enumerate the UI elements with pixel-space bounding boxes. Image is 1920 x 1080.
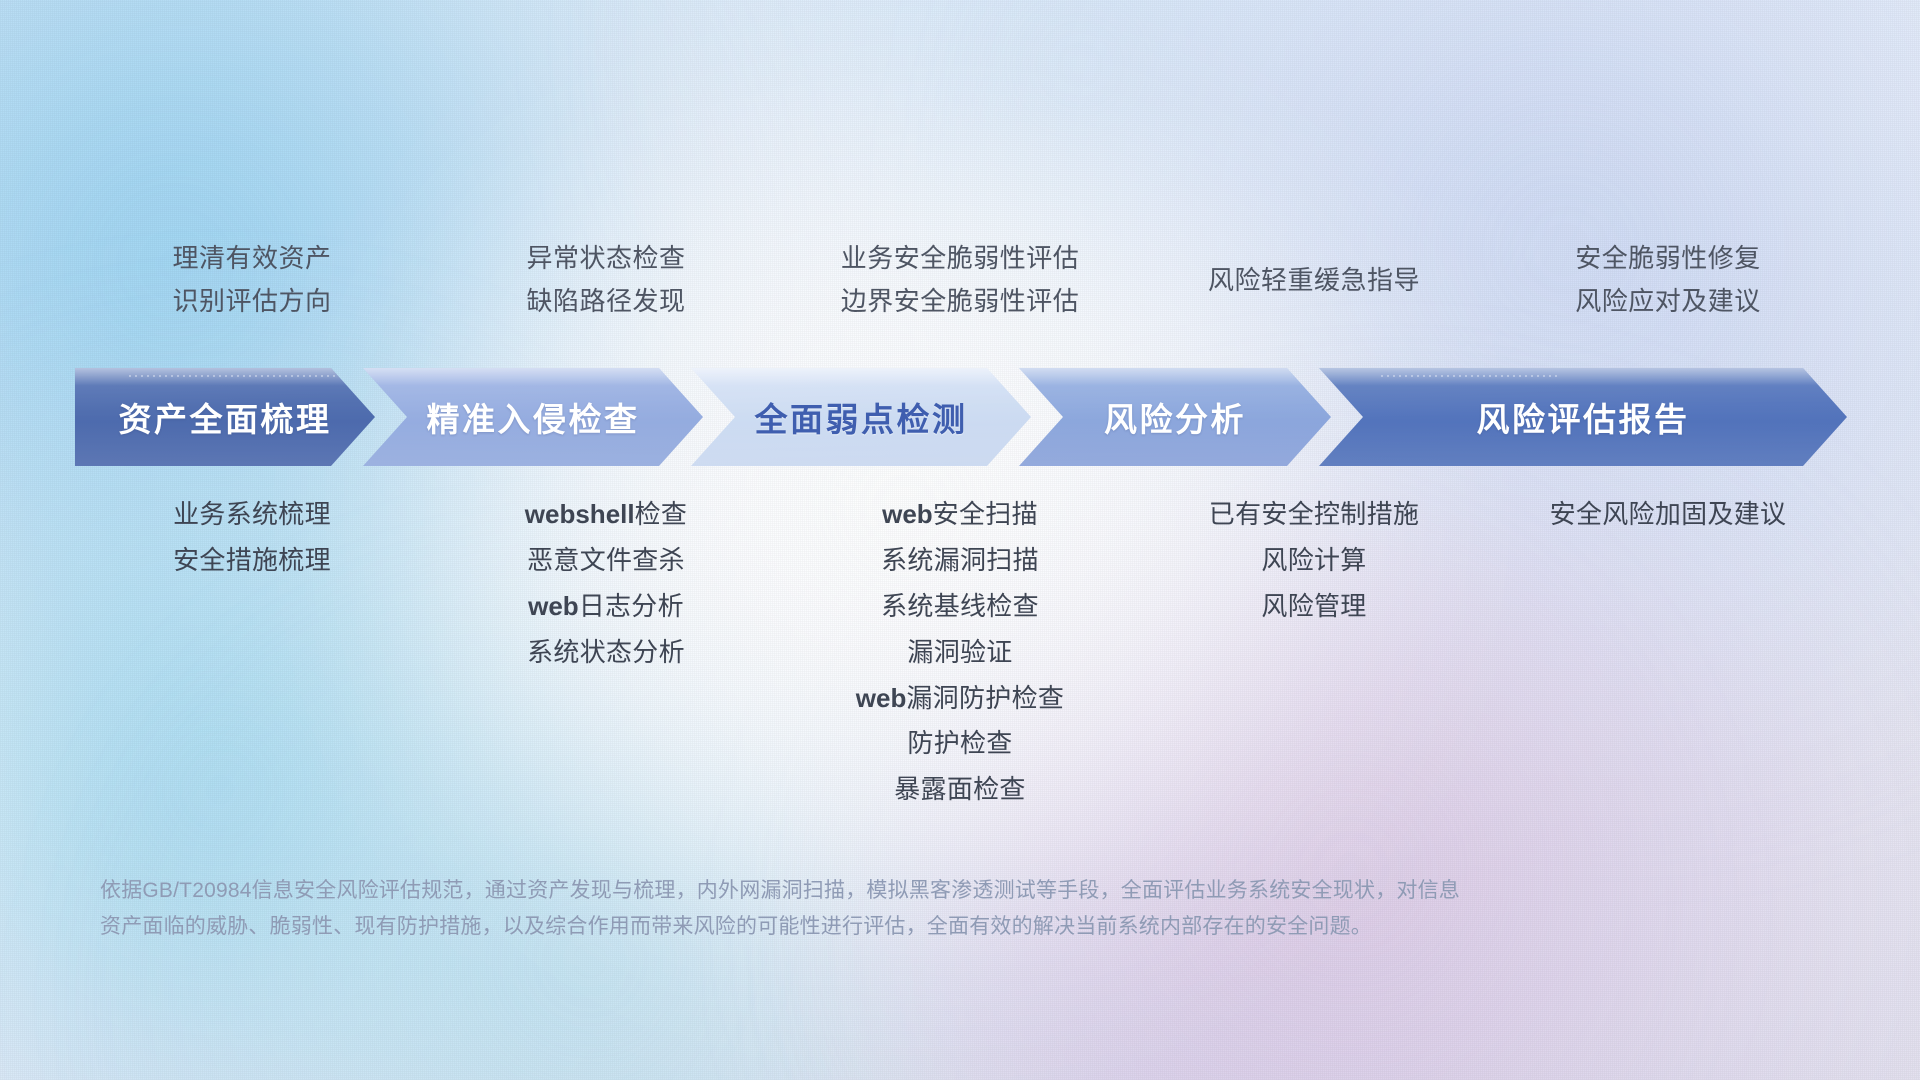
chevron-stage-intrusion-check[interactable]: 精准入侵检查 — [363, 368, 703, 466]
bottom-caption-cjk: 检查 — [635, 499, 688, 529]
bottom-caption-cjk: 暴露面检查 — [894, 774, 1026, 804]
bottom-captions-risk-analysis: 已有安全控制措施 风险计算 风险管理 — [1137, 500, 1491, 622]
bottom-caption-cjk: 系统漏洞扫描 — [881, 545, 1039, 575]
chevron-stage-assessment-report[interactable]: 风险评估报告 — [1319, 368, 1847, 466]
bottom-captions-weakness-detection: web安全扫描 系统漏洞扫描 系统基线检查 漏洞验证 web漏洞防护检查 防护检… — [783, 500, 1137, 805]
top-captions-risk-analysis: 风险轻重缓急指导 — [1137, 225, 1491, 335]
process-chevron-bar: 资产全面梳理 精准入侵检查 全面弱点检测 风险分析 风险评估报告 — [75, 368, 1847, 466]
bottom-caption-line: 漏洞验证 — [907, 638, 1012, 668]
chevron-stage-asset-inventory[interactable]: 资产全面梳理 — [75, 368, 375, 466]
chevron-label: 资产全面梳理 — [119, 393, 332, 441]
bottom-caption-cjk: 风险计算 — [1261, 545, 1366, 575]
footer-line: 依据GB/T20984信息安全风险评估规范，通过资产发现与梳理，内外网漏洞扫描，… — [100, 873, 1620, 909]
top-caption-line: 业务安全脆弱性评估 — [841, 244, 1080, 273]
bottom-caption-line: 防护检查 — [907, 729, 1012, 759]
top-caption-line: 识别评估方向 — [172, 287, 331, 316]
bottom-caption-line: 安全风险加固及建议 — [1550, 500, 1787, 530]
top-caption-line: 风险应对及建议 — [1575, 287, 1761, 316]
process-diagram: 理清有效资产 识别评估方向 异常状态检查 缺陷路径发现 业务安全脆弱性评估 边界… — [0, 0, 1920, 1080]
top-caption-line: 安全脆弱性修复 — [1575, 244, 1761, 273]
bottom-caption-cjk: 风险管理 — [1261, 591, 1366, 621]
bottom-caption-cjk: 漏洞验证 — [907, 637, 1012, 667]
bottom-caption-line: web日志分析 — [528, 592, 684, 622]
bottom-caption-cjk: 日志分析 — [579, 591, 684, 621]
footer-line: 资产面临的威胁、脆弱性、现有防护措施，以及综合作用而带来风险的可能性进行评估，全… — [100, 909, 1620, 945]
bottom-caption-cjk: 安全扫描 — [933, 499, 1038, 529]
bottom-caption-cjk: 安全风险加固及建议 — [1550, 499, 1787, 529]
top-caption-line: 理清有效资产 — [172, 244, 331, 273]
top-captions-asset-inventory: 理清有效资产 识别评估方向 — [75, 225, 429, 335]
bottom-caption-line: 系统状态分析 — [527, 638, 685, 668]
bottom-caption-cjk: 恶意文件查杀 — [527, 545, 685, 575]
top-caption-line: 缺陷路径发现 — [526, 287, 685, 316]
bottom-caption-line: web漏洞防护检查 — [856, 684, 1064, 714]
bottom-caption-line: 业务系统梳理 — [173, 500, 331, 530]
bottom-caption-line: 恶意文件查杀 — [527, 546, 685, 576]
bottom-caption-cjk: 已有安全控制措施 — [1209, 499, 1419, 529]
chevron-label: 精准入侵检查 — [427, 393, 640, 441]
chevron-label: 全面弱点检测 — [755, 393, 968, 441]
bottom-caption-line: 系统漏洞扫描 — [881, 546, 1039, 576]
top-captions-weakness-detection: 业务安全脆弱性评估 边界安全脆弱性评估 — [783, 225, 1137, 335]
top-caption-line: 边界安全脆弱性评估 — [841, 287, 1080, 316]
bottom-caption-cjk: 业务系统梳理 — [173, 499, 331, 529]
top-caption-line: 风险轻重缓急指导 — [1208, 266, 1420, 295]
top-captions-assessment-report: 安全脆弱性修复 风险应对及建议 — [1491, 225, 1845, 335]
bottom-caption-line: 风险计算 — [1261, 546, 1366, 576]
bottom-caption-latin: web — [856, 683, 907, 713]
bottom-caption-line: web安全扫描 — [882, 500, 1038, 530]
bottom-caption-line: webshell检查 — [525, 500, 687, 530]
bottom-caption-cjk: 系统基线检查 — [881, 591, 1039, 621]
bottom-caption-latin: webshell — [525, 499, 635, 529]
footer-description: 依据GB/T20984信息安全风险评估规范，通过资产发现与梳理，内外网漏洞扫描，… — [100, 873, 1620, 945]
bottom-caption-line: 系统基线检查 — [881, 592, 1039, 622]
top-caption-row: 理清有效资产 识别评估方向 异常状态检查 缺陷路径发现 业务安全脆弱性评估 边界… — [75, 225, 1845, 335]
bottom-captions-asset-inventory: 业务系统梳理 安全措施梳理 — [75, 500, 429, 576]
top-captions-intrusion-check: 异常状态检查 缺陷路径发现 — [429, 225, 783, 335]
bottom-captions-intrusion-check: webshell检查 恶意文件查杀 web日志分析 系统状态分析 — [429, 500, 783, 668]
bottom-caption-line: 已有安全控制措施 — [1209, 500, 1419, 530]
chevron-stage-weakness-detection[interactable]: 全面弱点检测 — [691, 368, 1031, 466]
top-caption-line: 异常状态检查 — [526, 244, 685, 273]
bottom-caption-line: 暴露面检查 — [894, 775, 1026, 805]
bottom-caption-line: 安全措施梳理 — [173, 546, 331, 576]
bottom-captions-assessment-report: 安全风险加固及建议 — [1491, 500, 1845, 530]
bottom-caption-line: 风险管理 — [1261, 592, 1366, 622]
bottom-caption-cjk: 安全措施梳理 — [173, 545, 331, 575]
chevron-label: 风险分析 — [1104, 393, 1246, 441]
chevron-stage-risk-analysis[interactable]: 风险分析 — [1019, 368, 1331, 466]
bottom-caption-latin: web — [882, 499, 933, 529]
chevron-label: 风险评估报告 — [1477, 393, 1690, 441]
bottom-caption-latin: web — [528, 591, 579, 621]
bottom-caption-row: 业务系统梳理 安全措施梳理 webshell检查 恶意文件查杀 web日志分析 … — [75, 500, 1845, 805]
bottom-caption-cjk: 漏洞防护检查 — [906, 683, 1064, 713]
bottom-caption-cjk: 系统状态分析 — [527, 637, 685, 667]
bottom-caption-cjk: 防护检查 — [907, 728, 1012, 758]
